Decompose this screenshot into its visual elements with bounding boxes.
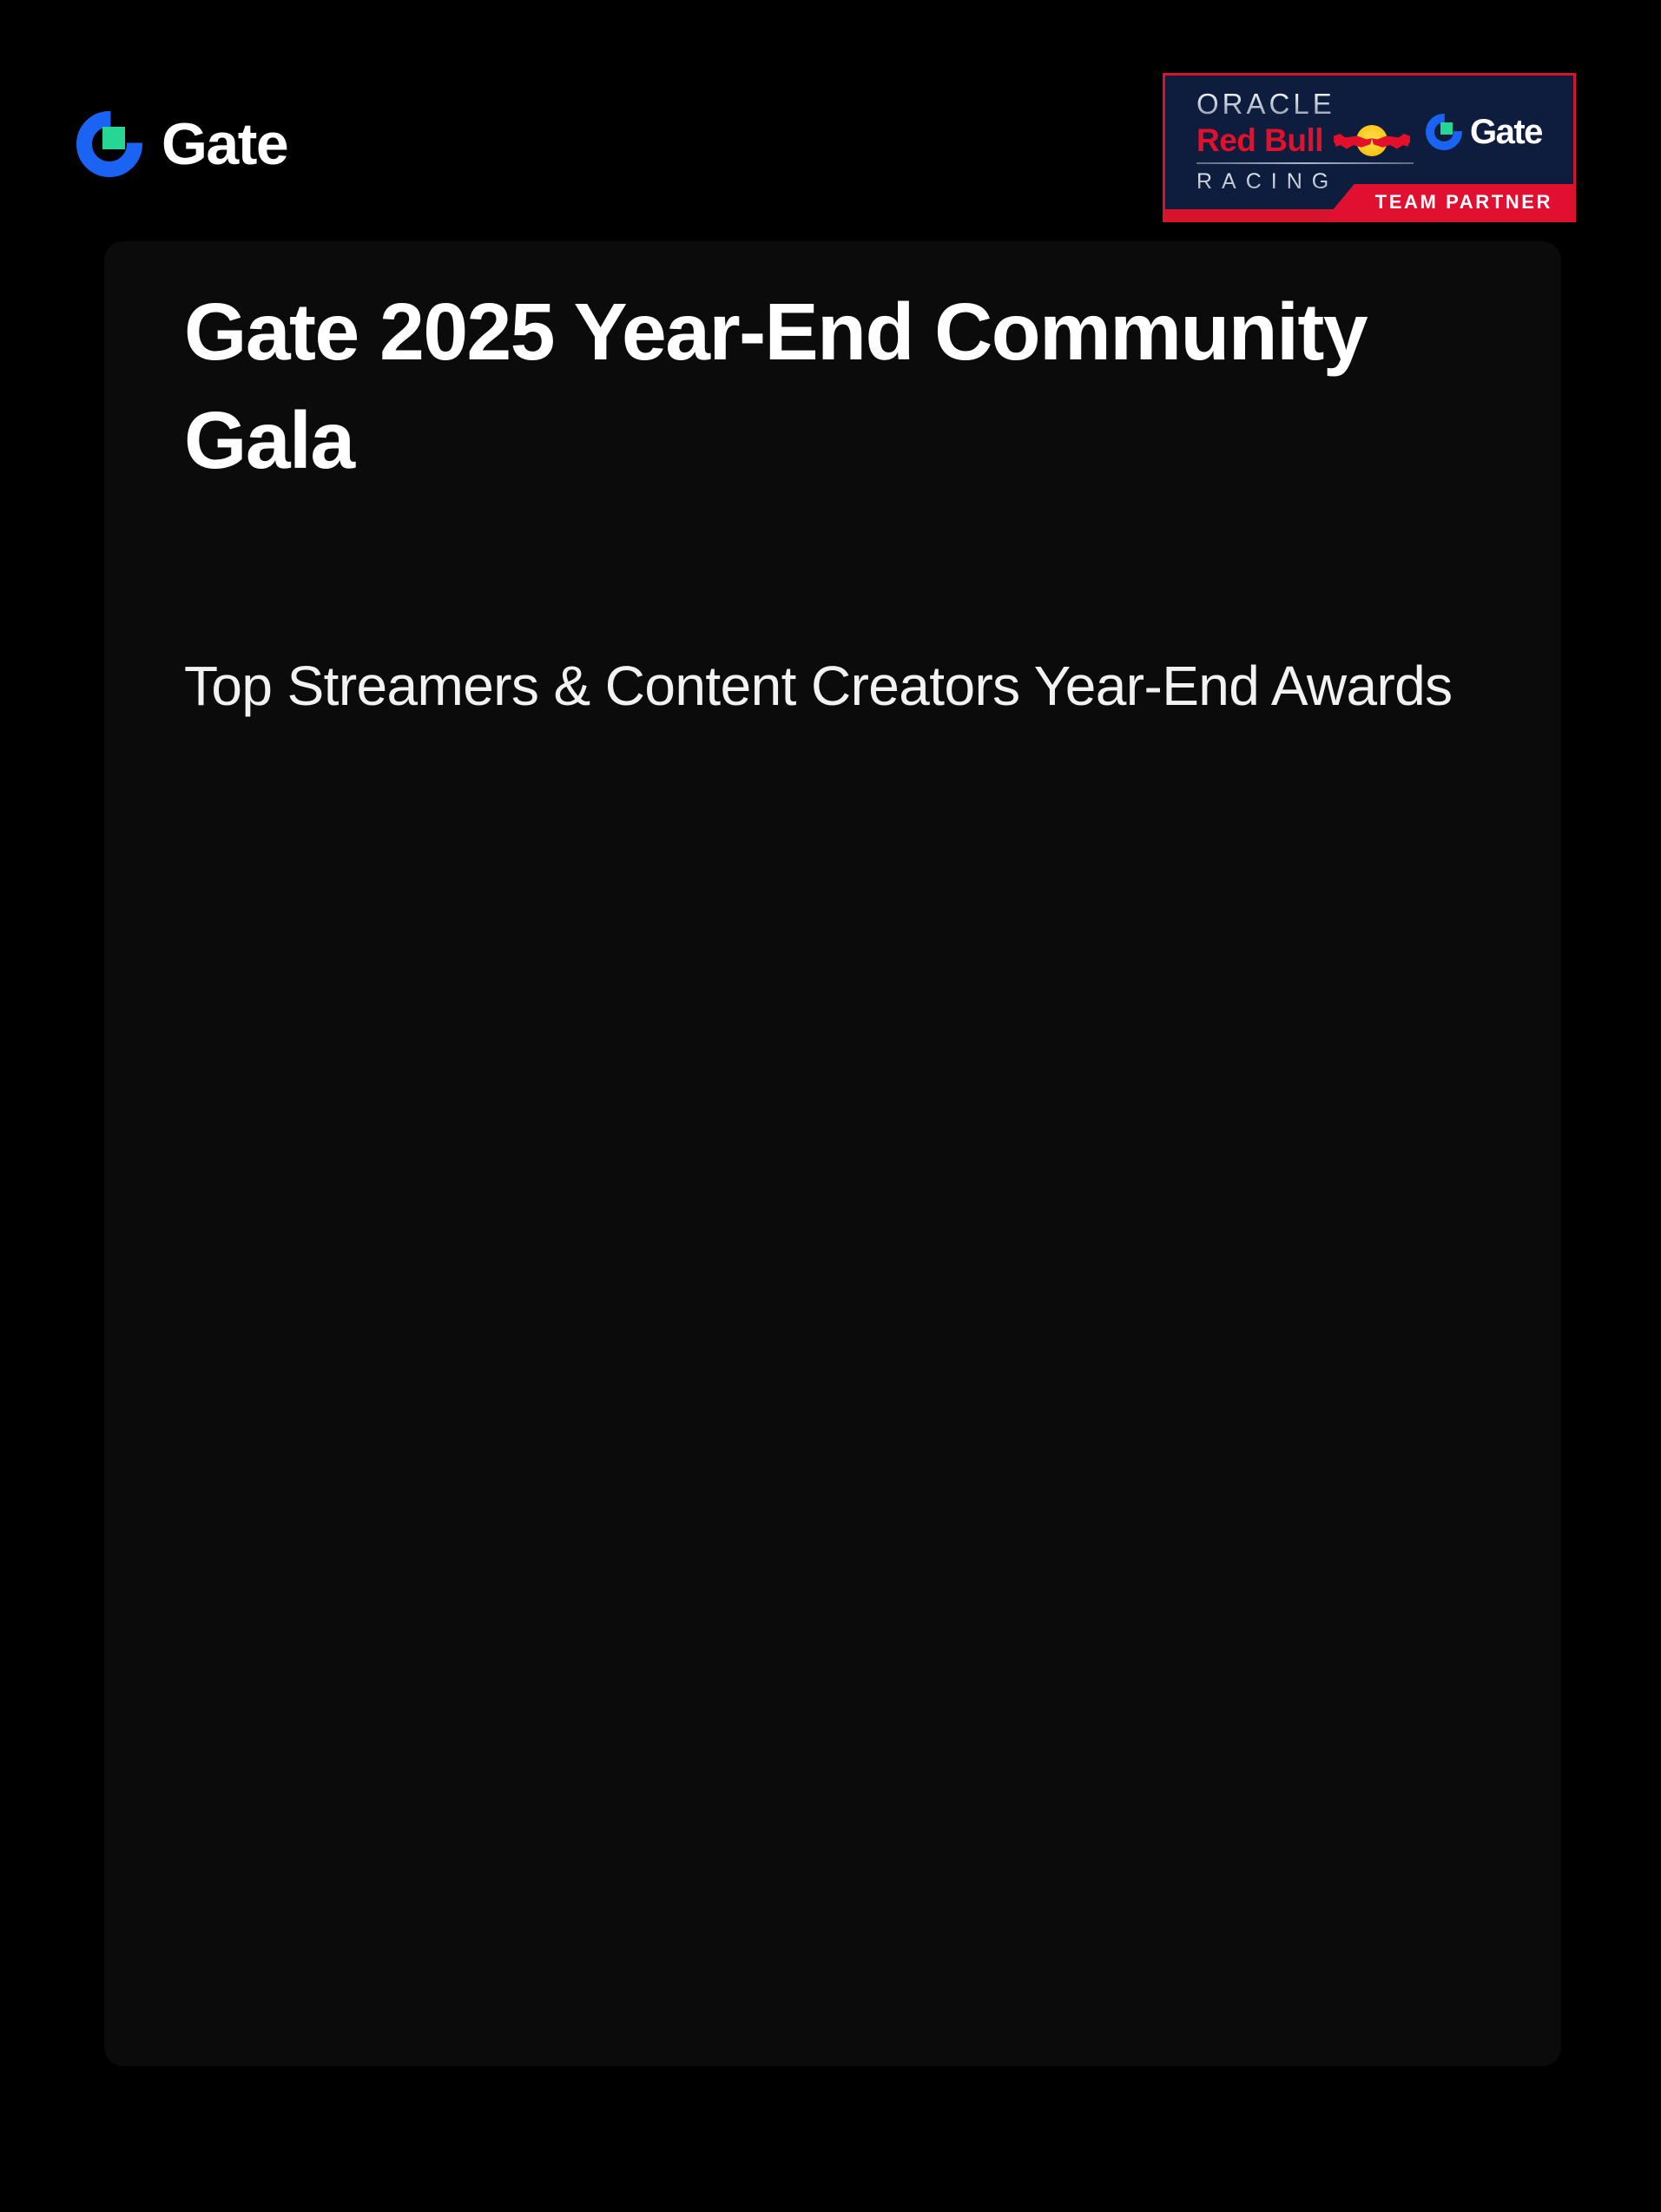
light-rod [1006, 1057, 1013, 2066]
gate-square-shape [1440, 122, 1453, 135]
light-rod [150, 762, 160, 2066]
light-rod [1215, 959, 1223, 2066]
flare-diagonal [285, 1292, 471, 1423]
sparkle [1125, 1445, 1127, 1446]
light-rod [243, 829, 252, 2066]
sparkle [822, 1108, 823, 1109]
light-rod [937, 1081, 944, 2066]
light-rod-curtain [104, 241, 1561, 2066]
light-rod [1191, 972, 1199, 2066]
oracle-wordmark: ORACLE [1196, 89, 1414, 120]
light-rod [798, 1097, 804, 2066]
light-rod [844, 1100, 850, 2066]
light-rod [1330, 891, 1339, 2066]
sparkle [192, 1450, 194, 1452]
sparkle [807, 1601, 809, 1603]
red-bull-racing-lockup: ORACLE Red Bull RACING [1196, 89, 1414, 194]
light-rod [1400, 845, 1408, 2066]
sparkle [274, 1545, 276, 1547]
light-rod [359, 905, 367, 2066]
light-rod [1283, 919, 1292, 2066]
page-subtitle: Top Streamers & Content Creators Year-En… [104, 651, 1561, 722]
light-rod [1515, 762, 1525, 2066]
light-rod [913, 1087, 919, 2066]
light-rod [682, 1066, 689, 2066]
gate-square-shape [102, 127, 125, 149]
sparkle [1079, 1526, 1082, 1529]
sparkle [289, 1596, 291, 1597]
light-rod [1098, 1018, 1106, 2066]
flare-diagonal [1106, 1678, 1255, 1783]
gate-logo-icon [1426, 114, 1462, 150]
sparkle [1203, 1384, 1204, 1386]
red-bull-icon [1332, 123, 1412, 158]
sparkle [1117, 1550, 1119, 1552]
light-rod [428, 946, 436, 2066]
red-bull-wordmark: Red Bull [1196, 124, 1323, 156]
light-rod [960, 1074, 967, 2066]
flare-core [363, 1342, 392, 1372]
oracle-red-bull-racing-partner-badge[interactable]: ORACLE Red Bull RACING Gate [1163, 73, 1576, 222]
light-rod [1492, 780, 1501, 2066]
gate-logo-icon [76, 111, 142, 177]
light-rod [1469, 796, 1479, 2066]
sparkle [620, 1389, 622, 1391]
light-rod [728, 1081, 735, 2066]
light-rod [335, 891, 344, 2066]
sparkle [722, 885, 724, 887]
light-rod [266, 845, 274, 2066]
light-rod [1376, 860, 1385, 2066]
sparkle [799, 1670, 801, 1673]
sparkle [492, 867, 494, 869]
light-rod [1446, 813, 1454, 2066]
sparkle [748, 1797, 749, 1799]
sparkle [543, 935, 544, 936]
sparkle [722, 1697, 723, 1699]
light-rod [1076, 1029, 1083, 2066]
light-rod [174, 780, 183, 2066]
sparkle [875, 1279, 877, 1280]
sparkle [1514, 1084, 1516, 1086]
sparkle [983, 858, 985, 860]
flare-core [1169, 1718, 1192, 1741]
sparkle [1012, 1737, 1012, 1738]
sparkle [1435, 1538, 1438, 1541]
sparkle [392, 1649, 393, 1650]
sparkle [162, 1648, 165, 1650]
light-rod [752, 1087, 758, 2066]
sparkle [918, 894, 919, 896]
light-rod [613, 1039, 620, 2066]
sparkle [1252, 805, 1255, 807]
light-rod [1052, 1039, 1059, 2066]
light-rod [405, 932, 412, 2066]
light-rod [1307, 905, 1315, 2066]
light-rod [289, 860, 298, 2066]
sparkle [1503, 1783, 1505, 1785]
light-rod [567, 1018, 575, 2066]
hero-artwork [104, 241, 1561, 2066]
sparkle [366, 1478, 368, 1479]
crown-trophy-icon [529, 1222, 1137, 1830]
sparkle [1524, 1317, 1526, 1320]
sparkle [338, 1576, 339, 1577]
sparkle [774, 1624, 777, 1627]
light-rod [983, 1066, 990, 2066]
light-rod [197, 796, 207, 2066]
sparkle [1105, 1185, 1108, 1188]
gate-wordmark: Gate [161, 115, 287, 174]
light-rod [774, 1092, 781, 2066]
sparkle [1522, 1325, 1524, 1327]
light-rod [1353, 875, 1361, 2066]
page-title: Gate 2025 Year-End Community Gala [104, 278, 1561, 494]
sparkle [741, 1193, 743, 1195]
light-rod [636, 1049, 643, 2066]
light-rod [128, 745, 137, 2066]
stage-floor-glow [104, 677, 1561, 2066]
flare-diagonal-2 [309, 1303, 447, 1412]
sparkle [1195, 1019, 1196, 1021]
light-rod [1237, 946, 1245, 2066]
light-rod [821, 1100, 827, 2066]
light-rod [706, 1074, 713, 2066]
light-rod [867, 1097, 873, 2066]
light-rod [452, 959, 459, 2066]
badge-gate-wordmark: Gate [1470, 115, 1542, 149]
light-rod [544, 1008, 551, 2066]
page-header: Gate ORACLE Red Bull RACING [0, 0, 1661, 236]
flare-diagonal-2 [1125, 1687, 1236, 1774]
light-rod [1029, 1049, 1036, 2066]
light-rod [1422, 829, 1431, 2066]
sparkle [222, 1577, 224, 1578]
light-rod [1122, 1008, 1130, 2066]
light-rod [1261, 932, 1269, 2066]
light-rod [1145, 996, 1153, 2066]
gala-announcement-card[interactable]: Gate 2025 Year-End Community Gala Top St… [104, 241, 1561, 2066]
light-rod [498, 984, 505, 2066]
light-rod [1168, 984, 1176, 2066]
sparkle [411, 837, 412, 839]
sparkle [1151, 1644, 1152, 1645]
sparkle [873, 1805, 875, 1807]
light-rod [104, 727, 114, 2066]
sparkle [992, 1036, 993, 1037]
light-rod [313, 875, 321, 2066]
light-rod [220, 813, 228, 2066]
sparkle [1439, 1554, 1441, 1557]
team-partner-banner: TEAM PARTNER [1325, 184, 1573, 220]
sparkle [1373, 1327, 1374, 1329]
badge-gate-logo: Gate [1426, 114, 1542, 150]
sparkle [661, 1366, 662, 1367]
light-rod [520, 996, 528, 2066]
light-rod [382, 919, 391, 2066]
pedestal-glow [650, 1406, 1015, 1962]
light-rod [891, 1092, 897, 2066]
light-rod [1538, 745, 1547, 2066]
sparkle [816, 1792, 819, 1794]
red-bull-row: Red Bull [1196, 123, 1414, 158]
poster-page: Gate ORACLE Red Bull RACING [0, 0, 1661, 2212]
light-rod [659, 1057, 666, 2066]
badge-divider [1196, 162, 1414, 164]
team-partner-label: TEAM PARTNER [1375, 191, 1552, 214]
gate-brand-logo[interactable]: Gate [76, 111, 287, 177]
sparkle [210, 1750, 211, 1751]
light-rod [590, 1029, 597, 2066]
light-rod [474, 972, 482, 2066]
sparkle [465, 1608, 468, 1610]
sparkle [779, 946, 781, 948]
